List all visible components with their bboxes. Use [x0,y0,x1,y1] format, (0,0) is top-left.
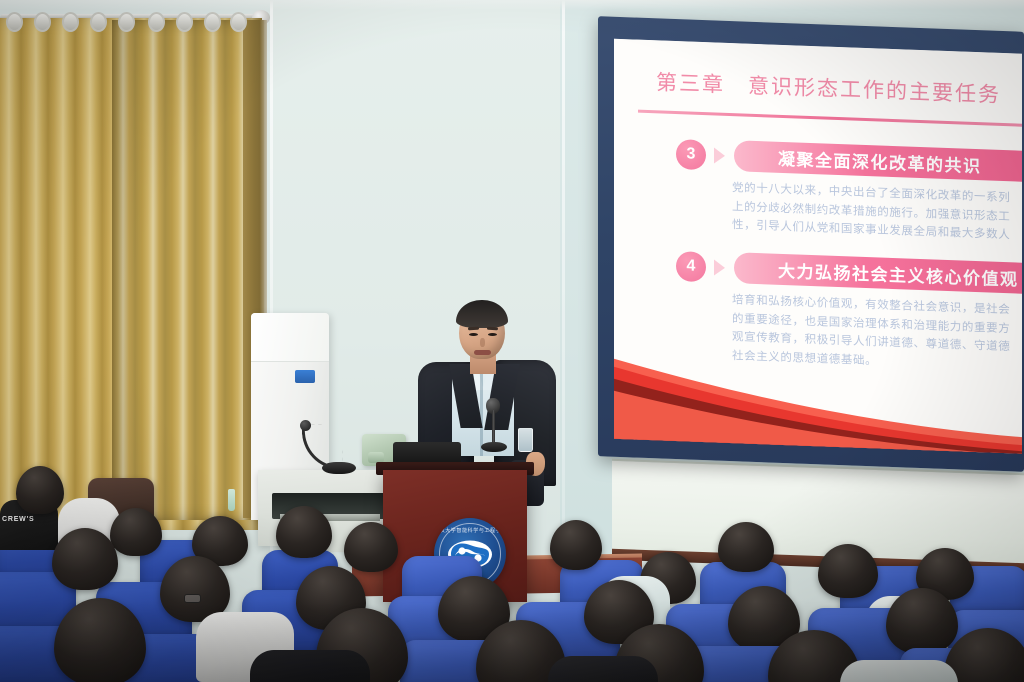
audience-shoulders [548,656,658,682]
section-3-number: 3 [676,139,706,170]
section-4-body: 培育和弘扬核心价值观，有效整合社会意识，是社会 的重要途径，也是国家治理体系和治… [732,291,1022,376]
speaker-mouth [474,350,491,355]
section-4-heading: 大力弘扬社会主义核心价值观 [734,252,1022,295]
curtain-grommet [176,12,193,32]
console-microphone-base [322,462,356,474]
projection-screen-icon: 第三章 意识形态工作的主要任务 3 凝聚全面深化改革的共识 党的十八大以来，中央… [598,16,1024,472]
slide-section-4: 4 大力弘扬社会主义核心价值观 培育和弘扬核心价值观，有效整合社会意识，是社会 … [676,249,1022,376]
water-glass-icon [518,428,533,452]
slide-section-3: 3 凝聚全面深化改革的共识 党的十八大以来，中央出台了全面深化改革的一系列 上的… [676,137,1022,246]
chevron-right-icon [714,147,725,163]
audience-head [718,522,774,572]
curtain-grommet [6,12,23,32]
section-4-header: 4 大力弘扬社会主义核心价值观 [676,249,1022,296]
speaker-nose [480,338,485,347]
lecture-hall-photo: 第三章 意识形态工作的主要任务 3 凝聚全面深化改革的共识 党的十八大以来，中央… [0,0,1024,682]
curtain-grommet [62,12,79,32]
curtain-grommet [90,12,107,32]
logo-ring-text: 武汉大学智能科学与工程学院 [434,527,506,534]
speaker-eye-right [488,333,497,336]
audience-head [550,520,602,570]
curtain-grommet [230,12,247,32]
ceiling-edge [0,0,1024,10]
air-conditioner-badge [295,370,315,383]
audience-shoulders [840,660,958,682]
podium-microphone-stem [492,410,495,446]
curtain-grommet [34,12,51,32]
curtain-grommet [204,12,221,32]
audience-head [344,522,398,572]
podium-microphone-base [481,442,507,452]
section-3-heading: 凝聚全面深化改革的共识 [734,140,1022,183]
slide-title-rule [638,110,1022,127]
curtain-grommet [148,12,165,32]
audience-shoulders [250,650,370,682]
section-3-header: 3 凝聚全面深化改革的共识 [676,137,1022,184]
water-bottle [228,489,235,511]
audience-head [110,508,162,556]
microphone-icon [300,420,311,431]
audience-head [16,466,64,514]
section-3-body: 党的十八大以来，中央出台了全面深化改革的一系列 上的分歧必然制约改革措施的施行。… [732,179,1022,246]
audience-head [276,506,332,558]
curtain-grommet [118,12,135,32]
speaker-eye-left [469,333,478,336]
air-conditioner-vent [251,313,329,362]
section-4-number: 4 [676,251,706,282]
presentation-slide: 第三章 意识形态工作的主要任务 3 凝聚全面深化改革的共识 党的十八大以来，中央… [614,39,1022,454]
audience-head [818,544,878,598]
wall-seam-right [562,0,565,560]
audience-head [52,528,118,590]
tshirt-text: CREW'S [2,516,56,523]
chevron-right-icon [714,259,725,275]
eyeglasses-icon [184,594,201,603]
curtain-panel-right [112,20,264,520]
slide-title: 第三章 意识形态工作的主要任务 [656,66,1001,109]
projection-screen-surface: 第三章 意识形态工作的主要任务 3 凝聚全面深化改革的共识 党的十八大以来，中央… [614,39,1022,454]
